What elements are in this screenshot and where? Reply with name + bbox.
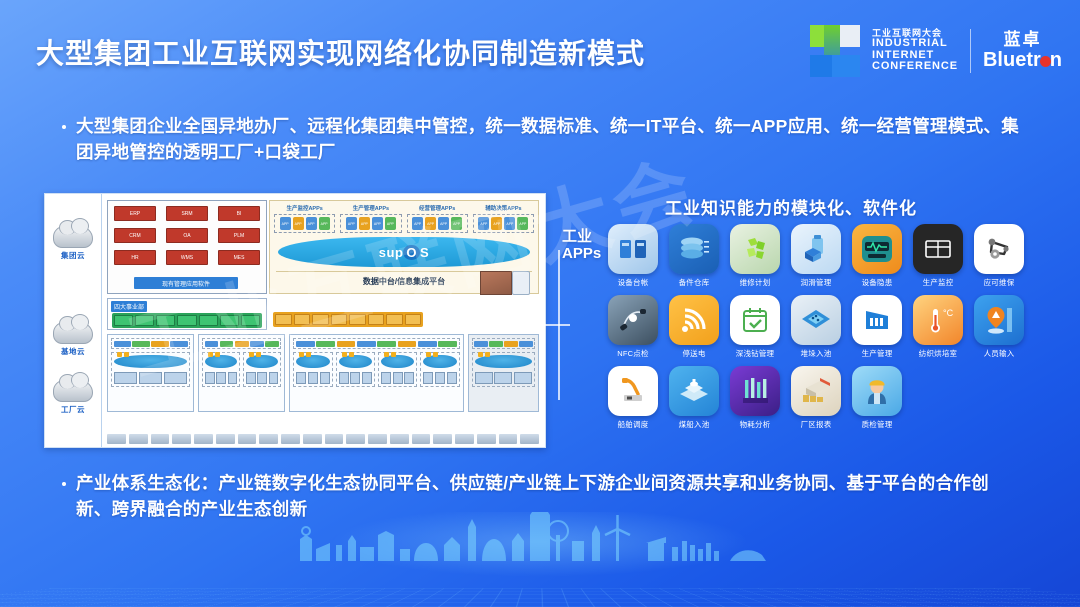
app-group: 辅助决策APPs APP APP APP APP [473,204,534,233]
unit-chip [331,314,348,325]
device-row [205,372,237,384]
app-tile-equipment-ledger[interactable]: 设备台帐 [608,224,658,288]
plant-report-icon[interactable] [791,366,841,416]
apps-panel-title: 工业知识能力的模块化、软件化 [556,194,1026,219]
brand-name-en-post: n [1050,49,1062,71]
app-tile-stacking[interactable]: 堆垛入池 [791,295,841,359]
architecture-diagram: 集团云 基地云 工厂云 ERP SRM BI [44,193,546,448]
factory-cells [472,352,535,387]
factory-cells [202,352,281,387]
app-tile-coal-ship-entry[interactable]: 煤船入池 [669,366,719,430]
app-tile-vessel-dispatch[interactable]: 船舶调度 [608,366,658,430]
apps-side-label-line2: APPs [562,245,601,262]
platform-panel: 生产监控APPs APP APP APP APP 生产管理APPs APP AP… [269,200,539,294]
app-label: 质检管理 [852,419,902,430]
unit-chip [368,314,385,325]
legacy-box: BI [218,206,260,221]
cloud-icon [53,322,93,344]
cloud-column: 集团云 基地云 工厂云 [45,194,102,447]
temperature-room-icon[interactable]: °C [913,295,963,345]
network-switch-icon [293,338,459,349]
personnel-entry-icon[interactable] [974,295,1024,345]
legacy-row: HR WMS MES [114,250,260,265]
maintenance-plan-icon[interactable] [730,224,780,274]
app-chip: APP [517,217,528,230]
factory-cell [472,352,535,387]
app-label: 设备隐患 [852,277,902,288]
app-tile-production-management[interactable]: 生产管理 [852,295,902,359]
edge-node-icon [475,355,532,368]
diagram-to-apps-connector [548,250,570,400]
edge-node-icon [246,355,278,368]
factory-cell [420,352,459,387]
business-units-row-2 [273,312,423,327]
app-label: 船舶调度 [608,419,658,430]
legacy-systems-grid: ERP SRM BI CRM OA PLM HR WMS MES [114,206,260,265]
skyline-silhouette-icon [0,512,1080,567]
app-label: 深浅钻管理 [730,348,780,359]
bullet-dot-icon [62,482,66,486]
unit-chip [275,314,292,325]
unit-chip [199,315,218,326]
cloud-factory: 工厂云 [53,380,93,415]
nfc-inspection-icon[interactable] [608,295,658,345]
app-group: 生产管理APPs APP APP APP APP [340,204,401,233]
platform-name-post: S [420,245,429,260]
app-label: 生产监控 [913,277,963,288]
factory-cell [111,352,190,387]
unit-chip [220,315,239,326]
app-chip: APP [280,217,291,230]
unit-chip [177,315,196,326]
factory-group [107,334,194,412]
cloud-group: 集团云 [53,226,93,261]
network-switch-icon [202,338,281,349]
predictive-maintenance-icon[interactable] [974,224,1024,274]
app-chip: APP [425,217,436,230]
app-tile-power-switch[interactable]: 停送电 [669,295,719,359]
logo-divider [970,29,971,73]
app-tile-material-consumption[interactable]: 物耗分析 [730,366,780,430]
factory-band [107,334,539,412]
app-group-title-0: 生产监控APPs [274,204,335,212]
platform-cloud: supOS [278,237,530,267]
stacking-icon[interactable] [791,295,841,345]
production-monitoring-icon[interactable] [913,224,963,274]
diagram-body: ERP SRM BI CRM OA PLM HR WMS MES [101,194,545,447]
edge-node-icon [205,355,237,368]
app-chip: APP [319,217,330,230]
app-group-chips: APP APP APP APP [274,214,335,233]
cloud-label-2: 工厂云 [53,404,93,415]
factory-group [198,334,285,412]
factory-cell [336,352,375,387]
brand-name-en: Bluetrn [983,49,1062,71]
factory-cell [243,352,281,387]
slide-header: 大型集团工业互联网实现网络化协同制造新模式 工业互联网大会 INDUSTRIAL… [0,0,1080,98]
app-label: 人员输入 [974,348,1024,359]
factory-cells [293,352,459,387]
svg-text:°C: °C [943,308,954,318]
equipment-hazard-icon[interactable] [852,224,902,274]
apps-side-label-line1: 工业 [562,228,601,245]
app-tile-equipment-hazard[interactable]: 设备隐患 [852,224,902,288]
platform-name-pre: sup [379,245,404,260]
brand-name-en-pre: Bluetr [983,49,1041,71]
coal-ship-entry-icon[interactable] [669,366,719,416]
page-title: 大型集团工业互联网实现网络化协同制造新模式 [36,32,645,72]
factory-cells [111,352,190,387]
cloud-icon [53,380,93,402]
plant-photo-thumbnail [480,271,512,295]
factory-cell [378,352,417,387]
app-chip: APP [372,217,383,230]
app-label: 应可维保 [974,277,1024,288]
device-row [339,372,372,384]
legacy-box: CRM [114,228,156,243]
app-group-chips: APP APP APP APP [473,214,534,233]
edge-node-icon [381,355,414,368]
app-group-title-2: 经营管理APPs [407,204,468,212]
device-row [296,372,329,384]
edge-node-icon [423,355,456,368]
device-row [423,372,456,384]
unit-chip [349,314,366,325]
bullet-item-1: 大型集团企业全国异地办厂、远程化集团集中管控，统一数据标准、统一IT平台、统一A… [62,113,1022,166]
app-chip: APP [385,217,396,230]
app-chip: APP [478,217,489,230]
app-tile-lubrication[interactable]: 润滑管理 [791,224,841,288]
apps-row-1: 设备台帐 备件仓库 维修计划 [608,224,1048,288]
app-tile-quality-inspection[interactable]: 质检管理 [852,366,902,430]
cloud-label-0: 集团云 [53,250,93,261]
shopfloor-equipment-strip [107,428,539,444]
lubrication-management-icon[interactable] [791,224,841,274]
drilling-management-icon[interactable] [730,295,780,345]
legacy-box: OA [166,228,208,243]
legacy-row: CRM OA PLM [114,228,260,243]
factory-cell [293,352,332,387]
app-label: 纺织烘培室 [913,348,963,359]
legacy-box: ERP [114,206,156,221]
app-tile-plant-report[interactable]: 厂区报表 [791,366,841,430]
app-label: 物耗分析 [730,419,780,430]
app-group-title-1: 生产管理APPs [340,204,401,212]
vessel-dispatch-icon[interactable] [608,366,658,416]
app-tile-drilling-management[interactable]: 深浅钻管理 [730,295,780,359]
app-chip: APP [359,217,370,230]
app-label: 生产管理 [852,348,902,359]
app-group: 经营管理APPs APP APP APP APP [407,204,468,233]
device-row [246,372,278,384]
unit-chip [386,314,403,325]
app-tile-maintenance-plan[interactable]: 维修计划 [730,224,780,288]
cloud-base: 基地云 [53,322,93,357]
app-tile-temperature-room[interactable]: °C 纺织烘培室 [913,295,963,359]
legacy-box: WMS [166,250,208,265]
legacy-systems-caption: 现有管理应用软件 [134,277,238,289]
unit-chip [135,315,154,326]
app-chip: APP [306,217,317,230]
unit-chip [156,315,175,326]
app-tile-production-monitoring[interactable]: 生产监控 [913,224,963,288]
unit-chip [312,314,329,325]
app-group-chips: APP APP APP APP [340,214,401,233]
platform-name: supOS [379,245,429,260]
app-label: 润滑管理 [791,277,841,288]
legacy-box: HR [114,250,156,265]
apps-row-2: NFC点检 停送电 深浅钻管理 [608,295,1048,359]
business-units-panel-2 [273,298,423,328]
app-chip: APP [491,217,502,230]
app-label: 堆垛入池 [791,348,841,359]
unit-chip [294,314,311,325]
business-units-panel: 四大事业部 [107,298,267,330]
cloud-icon [53,226,93,248]
device-row [381,372,414,384]
bottom-skyline-decoration [0,512,1080,607]
app-chip: APP [438,217,449,230]
cloud-label-1: 基地云 [53,346,93,357]
conference-logo-text: 工业互联网大会 INDUSTRIAL INTERNET CONFERENCE [872,29,958,73]
conference-name-en-3: CONFERENCE [872,61,958,73]
edge-node-icon [114,355,187,368]
app-group-title-3: 辅助决策APPs [473,204,534,212]
logo-area: 工业互联网大会 INDUSTRIAL INTERNET CONFERENCE 蓝… [810,24,1062,78]
app-chip: APP [451,217,462,230]
factory-group [289,334,463,412]
unit-chip [405,314,422,325]
device-row [475,372,532,384]
platform-name-mark: O [403,245,420,260]
legacy-systems-panel: ERP SRM BI CRM OA PLM HR WMS MES [107,200,267,294]
apps-grid: 设备台帐 备件仓库 维修计划 [608,224,1048,437]
mobile-device-icon [512,271,530,295]
legacy-box: SRM [166,206,208,221]
conference-logo-icon [810,25,860,77]
unit-chip [241,315,260,326]
app-label: 厂区报表 [791,419,841,430]
factory-cell [202,352,240,387]
app-tile-spare-parts[interactable]: 备件仓库 [669,224,719,288]
app-tile-nfc-inspection[interactable]: NFC点检 [608,295,658,359]
app-label: NFC点检 [608,348,658,359]
app-chip: APP [504,217,515,230]
legacy-row: ERP SRM BI [114,206,260,221]
app-chip: APP [412,217,423,230]
app-tile-personnel-entry[interactable]: 人员输入 [974,295,1024,359]
business-units-row [112,313,262,328]
slide-root: 大型集团工业互联网实现网络化协同制造新模式 工业互联网大会 INDUSTRIAL… [0,0,1080,607]
app-label: 停送电 [669,348,719,359]
app-group-chips: APP APP APP APP [407,214,468,233]
edge-node-icon [296,355,329,368]
app-group: 生产监控APPs APP APP APP APP [274,204,335,233]
spare-parts-warehouse-icon[interactable] [669,224,719,274]
skyline-perspective-grid [0,589,1080,607]
legacy-box: MES [218,250,260,265]
device-row [114,372,187,384]
network-switch-icon [111,338,190,349]
app-chip: APP [293,217,304,230]
equipment-ledger-icon[interactable] [608,224,658,274]
app-label: 设备台帐 [608,277,658,288]
app-label: 煤船入池 [669,419,719,430]
app-label: 维修计划 [730,277,780,288]
bullet-text-1: 大型集团企业全国异地办厂、远程化集团集中管控，统一数据标准、统一IT平台、统一A… [76,113,1022,166]
unit-chip [114,315,133,326]
brand-logo: 蓝卓 Bluetrn [983,31,1062,72]
apps-row-3: 船舶调度 煤船入池 物耗分析 [608,366,1048,430]
power-switch-icon[interactable] [669,295,719,345]
brand-name-cn: 蓝卓 [983,31,1062,50]
app-chip: APP [346,217,357,230]
network-switch-icon [472,338,535,349]
legacy-box: PLM [218,228,260,243]
app-tile-predictive-maintenance[interactable]: 应可维保 [974,224,1024,288]
bullet-dot-icon [62,125,66,129]
business-units-caption: 四大事业部 [111,301,147,312]
apps-side-label: 工业 APPs [562,228,601,263]
edge-node-icon [339,355,372,368]
app-groups: 生产监控APPs APP APP APP APP 生产管理APPs APP AP… [274,204,534,233]
factory-group [468,334,539,412]
app-label: 备件仓库 [669,277,719,288]
quality-inspection-icon[interactable] [852,366,902,416]
material-consumption-analysis-icon[interactable] [730,366,780,416]
production-management-icon[interactable] [852,295,902,345]
